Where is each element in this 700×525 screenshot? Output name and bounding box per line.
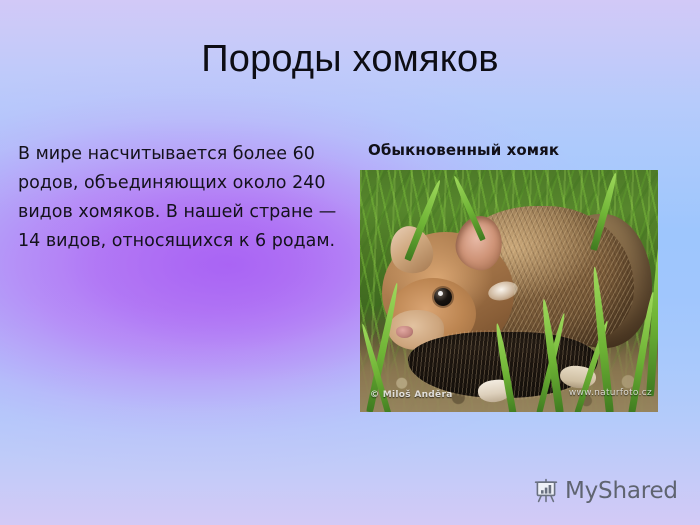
hamster-photo-content: © Miloš Anděra www.naturfoto.cz — [360, 170, 658, 412]
myshared-logo-text: MyShared — [565, 478, 678, 504]
slide-canvas: Породы хомяков В мире насчитывается боле… — [0, 0, 700, 525]
hamster-eye-highlight — [438, 291, 443, 296]
slide-title: Породы хомяков — [0, 36, 700, 82]
photo-caption: Обыкновенный хомяк — [368, 140, 559, 160]
photo-watermark-website: www.naturfoto.cz — [569, 388, 652, 398]
slide-body-text: В мире насчитывается более 60 родов, объ… — [18, 140, 348, 256]
hamster-nose — [396, 326, 413, 338]
flipchart-bar-chart-icon — [533, 478, 559, 504]
hamster-eye — [434, 288, 452, 306]
hamster-photo: © Miloš Anděra www.naturfoto.cz — [360, 170, 658, 412]
photo-watermark-photographer: © Miloš Anděra — [370, 390, 453, 400]
myshared-logo[interactable]: MyShared — [533, 478, 678, 504]
